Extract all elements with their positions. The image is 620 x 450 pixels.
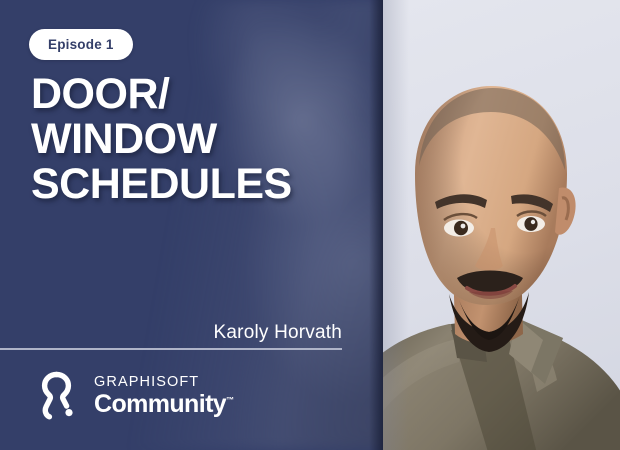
title-line-2: WINDOW	[31, 117, 361, 162]
episode-thumbnail-card: Episode 1 DOOR/ WINDOW SCHEDULES Karoly …	[0, 0, 620, 450]
card-content: Episode 1 DOOR/ WINDOW SCHEDULES Karoly …	[0, 0, 620, 450]
trademark-symbol: ™	[226, 396, 234, 405]
episode-title: DOOR/ WINDOW SCHEDULES	[31, 72, 361, 207]
logo-wordmark: GRAPHISOFT Community™	[94, 375, 234, 418]
title-line-3: SCHEDULES	[31, 162, 361, 207]
person-mark-icon	[33, 371, 81, 421]
logo-brand-community: Community™	[94, 392, 234, 417]
logo-brand-graphisoft: GRAPHISOFT	[94, 375, 234, 390]
divider-rule	[0, 348, 342, 350]
logo-community-word: Community	[94, 390, 226, 418]
graphisoft-community-logo: GRAPHISOFT Community™	[33, 371, 234, 421]
title-line-1: DOOR/	[31, 72, 361, 117]
presenter-name: Karoly Horvath	[0, 322, 343, 344]
episode-badge: Episode 1	[29, 29, 133, 60]
